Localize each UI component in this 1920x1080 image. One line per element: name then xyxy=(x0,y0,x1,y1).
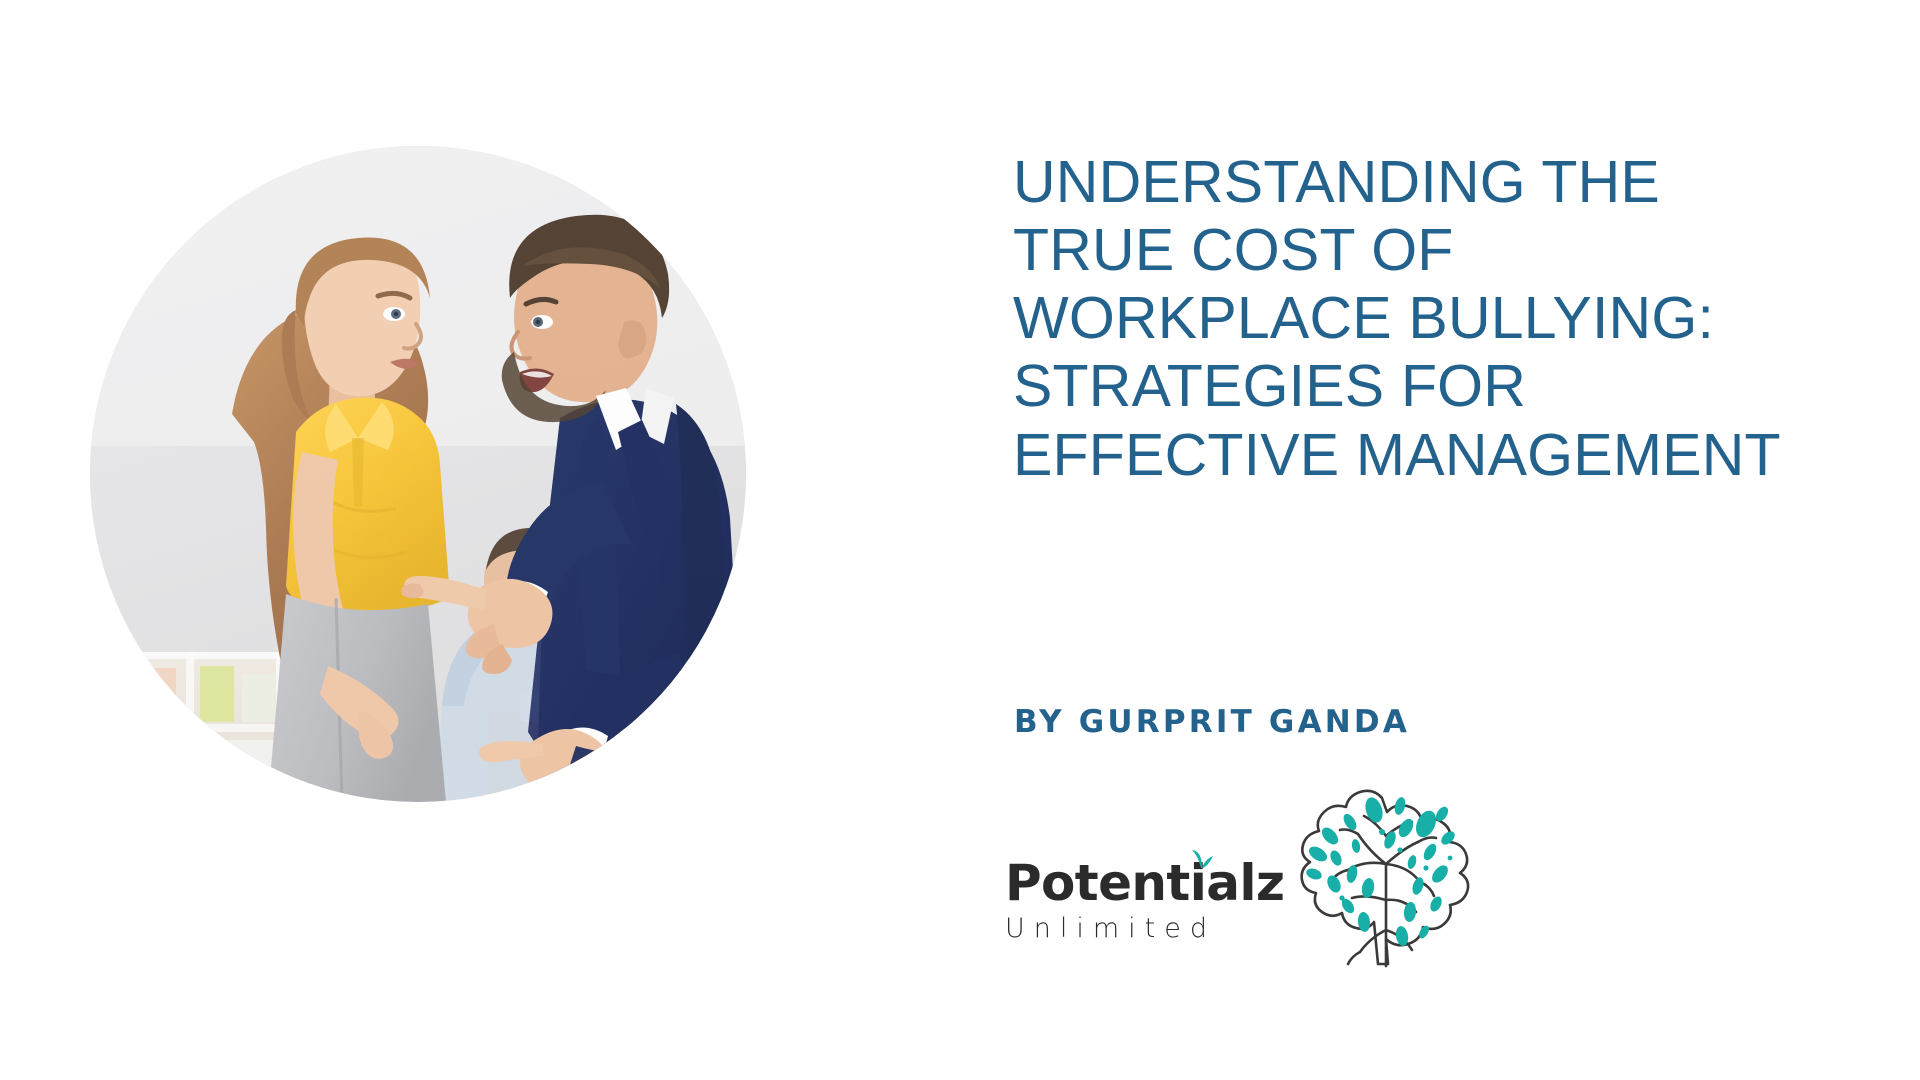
hero-photo xyxy=(90,146,746,802)
brain-tree-icon xyxy=(1290,780,1480,975)
hero-photo-circle xyxy=(90,146,746,802)
leaf-sprout-icon xyxy=(1188,847,1214,869)
logo-name-text: Potentialz xyxy=(1005,854,1284,912)
byline: BY GURPRIT GANDA xyxy=(1014,704,1410,740)
page-title: UNDERSTANDING THE TRUE COST OF WORKPLACE… xyxy=(1013,148,1873,489)
hero-photo-illustration xyxy=(90,146,746,802)
logo-subtitle: Unlimited xyxy=(1005,915,1275,942)
logo-wordmark: Potentialz Unlimited xyxy=(1005,858,1275,942)
logo-name: Potentialz xyxy=(1005,858,1275,908)
cover-canvas: UNDERSTANDING THE TRUE COST OF WORKPLACE… xyxy=(0,0,1920,1080)
brand-logo[interactable]: Potentialz Unlimited xyxy=(1005,800,1475,990)
headline-block: UNDERSTANDING THE TRUE COST OF WORKPLACE… xyxy=(1013,148,1873,489)
